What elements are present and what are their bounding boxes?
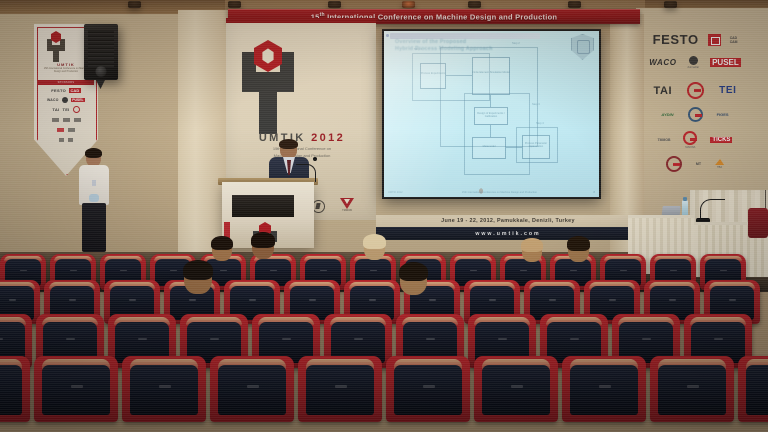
slide-footer-center: 15th International Conference on Machine… (462, 191, 537, 194)
umtik-wrench-nut-logo (238, 38, 298, 134)
auditorium-seating (0, 250, 768, 432)
attendee-hair (85, 148, 102, 158)
pennant-sponsor-chip (59, 138, 64, 142)
sponsor-row-1: FESTO CADCAM (624, 32, 766, 47)
pennant-sponsor-chip (63, 118, 70, 122)
pennant-sponsor-row-1: FESTO CAD (38, 88, 94, 93)
seat (562, 356, 646, 422)
sponsor-row-5: TMMOB MAKINA TICKS (624, 131, 766, 149)
pennant-sponsor-row-4 (38, 118, 94, 122)
conference-date-strip: June 19 - 22, 2012, Pamukkale, Denizli, … (376, 215, 640, 227)
water-bottle (682, 200, 688, 216)
slide-footer: UMTIK 2012 15th International Conference… (388, 186, 595, 194)
side-chair (748, 208, 768, 238)
tmmob-logo: TMMOB (340, 198, 354, 212)
audience-head (522, 240, 542, 262)
ceiling-light (468, 1, 481, 8)
pennant-sponsor-row-6 (38, 138, 94, 142)
sponsor-tba: TBA (715, 159, 724, 169)
sponsor-row-3: TAI TEI (624, 82, 766, 99)
pennant-sponsor-ribbon: SPONSORS (38, 80, 94, 85)
sponsor-cec-icon (666, 156, 682, 172)
projection-screen-frame: Overview of the Proposed Hybrid Process … (382, 29, 601, 199)
ceiling-light (664, 1, 677, 8)
seat (738, 356, 768, 422)
seat (474, 356, 558, 422)
backdrop-red-stripe (226, 18, 376, 23)
sponsor-mt: MT (696, 162, 701, 166)
sponsor-cad-icon (708, 34, 721, 46)
pennant-sponsor-chip (57, 128, 64, 132)
sponsor-pusel: PUSEL (710, 58, 741, 67)
sponsor-tai: TAI (653, 85, 672, 97)
sponsor-durmazlar-label: durmazlar (688, 66, 700, 69)
umtik-year: 2012 (311, 132, 345, 144)
pennant-sponsor-row-5 (38, 128, 94, 132)
sponsor-makina-label: MAKINA (685, 146, 695, 149)
flow-connector (490, 125, 491, 137)
pennant-sponsor-festo: FESTO (51, 88, 66, 93)
sponsor-tba-icon (715, 159, 724, 165)
audience-head (184, 262, 212, 294)
sponsor-durmazlar-icon (689, 56, 698, 65)
sponsor-waco: WACO (649, 58, 676, 67)
sponsor-ticks: TICKS (710, 137, 732, 143)
wall-mounted-loudspeaker (84, 24, 118, 80)
pennant-sponsor-durmazlar-icon (62, 97, 68, 103)
podium-inset-panel (232, 195, 294, 217)
ceiling-light (402, 1, 415, 8)
flow-box-label-3: Design of Experiments / Calibration (474, 112, 508, 118)
sponsor-row-6: MT TBA (624, 156, 766, 172)
pennant-sponsor-chip (52, 118, 59, 122)
seat (386, 356, 470, 422)
seat (122, 356, 206, 422)
sponsor-row-4: AYDIN FIGES (624, 107, 766, 122)
presenter-hair (279, 139, 298, 149)
flow-label-step4: Step 4 (536, 122, 544, 125)
flow-connector (506, 147, 522, 148)
seat (298, 356, 382, 422)
flow-label-step1: Step 1 (414, 48, 422, 51)
conference-photo-scene: 15th International Conference on Machine… (0, 0, 768, 432)
audience-head (364, 236, 385, 260)
pennant-sponsor-cad: CAD (69, 88, 81, 93)
audience-head (212, 238, 232, 261)
sponsor-tba-label: TBA (717, 166, 722, 169)
seat (0, 356, 30, 422)
pennant-sponsor-waco: WACO (47, 98, 59, 102)
sponsor-tei: TEI (719, 85, 736, 96)
pennant-sponsor-tei: TEI (62, 107, 69, 112)
attendee-badge (92, 180, 96, 186)
ceiling-light (128, 1, 141, 8)
sponsor-g-icon (687, 82, 704, 99)
sponsor-aydin: AYDIN (661, 112, 673, 117)
conference-date-text: June 19 - 22, 2012, Pamukkale, Denizli, … (441, 218, 575, 224)
seat (210, 356, 294, 422)
flow-box-process-experiments (420, 63, 446, 89)
pennant-sponsor-g-icon (73, 106, 80, 113)
sponsor-festo: FESTO (653, 32, 699, 47)
flow-box-label-4: Metamodel (472, 145, 506, 148)
sponsor-tmmob: TMMOB (658, 138, 671, 142)
audience-head (568, 238, 589, 262)
projection-screen: Overview of the Proposed Hybrid Process … (384, 31, 599, 197)
seat (34, 356, 118, 422)
flow-box-label-5: Process Parameter Optimization (522, 142, 550, 148)
pennant-ribbon-label: SPONSORS (38, 80, 94, 85)
conference-website-text: www.umtik.com (475, 231, 540, 237)
tmmob-label: TMMOB (338, 209, 356, 212)
audience-head (400, 264, 427, 295)
ceiling-light (228, 1, 241, 8)
table-microphone-icon (700, 196, 726, 222)
sponsor-row-2: WACO durmazlar PUSEL (624, 56, 766, 69)
conference-website-strip: www.umtik.com (376, 227, 640, 240)
standing-attendee (76, 150, 112, 252)
flow-box-fe-simulation (472, 57, 510, 95)
flow-connector (446, 75, 472, 76)
slide-page-number: 8 (593, 190, 595, 194)
sponsor-makina-icon (683, 131, 697, 145)
pennant-sponsor-chip (68, 128, 75, 132)
audience-head (252, 234, 274, 259)
flow-box-label-2: Finite Element Simulation Model (472, 71, 510, 74)
podium-microphone-icon (296, 158, 316, 182)
pennant-sponsor-tai: TAI (52, 107, 59, 112)
sponsor-cad-label: CADCAM (730, 36, 738, 44)
ceiling-light (328, 1, 341, 8)
pennant-sponsor-chip (68, 138, 73, 142)
seat (650, 356, 734, 422)
flow-label-step3: Step 3 (532, 103, 540, 106)
sponsor-durmazlar: durmazlar (688, 56, 700, 69)
flow-label-step2: Step 2 (512, 42, 520, 45)
pennant-sponsor-chip (74, 118, 81, 122)
sponsor-figes: FIGES (717, 112, 729, 117)
sponsor-makina: MAKINA (683, 131, 697, 149)
sponsor-tusas-icon (688, 107, 703, 122)
sponsor-logo-wall: FESTO CADCAM WACO durmazlar PUSEL TAI TE… (624, 30, 766, 210)
pennant-umtik-logo (46, 31, 66, 61)
wall-pilaster-left (178, 10, 228, 272)
attendee-trousers (82, 203, 106, 252)
pennant-sponsor-row-2: WACO PUSEL (38, 97, 94, 103)
slide-footer-left: UMTIK 2012 (388, 191, 403, 194)
ceiling-light (568, 1, 581, 8)
attendee-hand-object (89, 194, 99, 202)
flow-connector (490, 95, 491, 107)
slide-flowchart: Step 1 Step 2 Step 3 Step 4 Process Expe… (384, 31, 599, 197)
pennant-sponsor-pusel: PUSEL (71, 98, 85, 102)
flow-box-label-1: Process Experiments (420, 72, 446, 75)
pennant-sponsor-row-3: TAI TEI (38, 106, 94, 113)
